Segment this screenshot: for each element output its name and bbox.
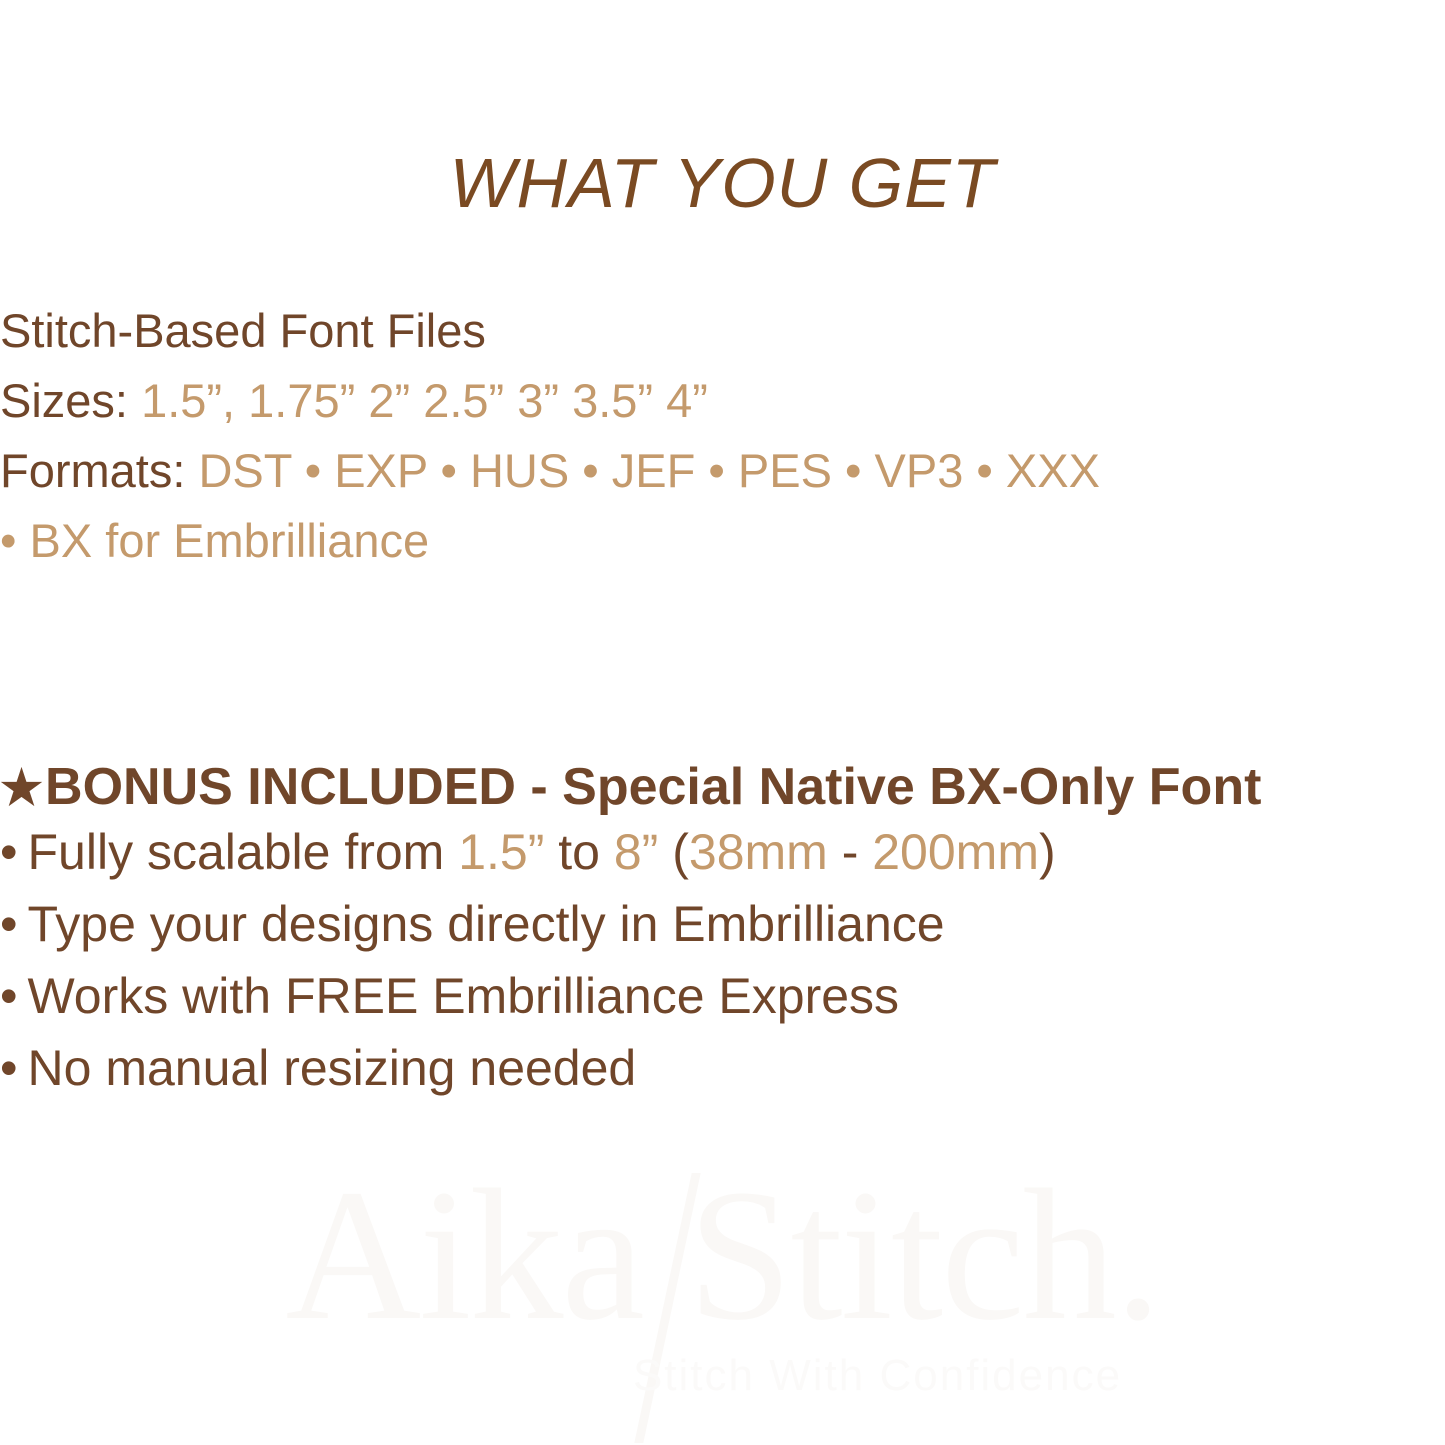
- spec-formats-value: DST • EXP • HUS • JEF • PES • VP3 • XXX: [198, 444, 1100, 497]
- bonus-list-item: •No manual resizing needed: [0, 1032, 1300, 1104]
- watermark-slash-icon: [634, 1173, 700, 1443]
- bonus-item-segment: Works with FREE Embrilliance Express: [28, 968, 900, 1024]
- bullet-icon: •: [0, 968, 18, 1024]
- spec-formats-value-wrap: • BX for Embrilliance: [0, 514, 429, 567]
- bonus-list-item: •Type your designs directly in Embrillia…: [0, 888, 1300, 960]
- spec-formats-label: Formats:: [0, 444, 185, 497]
- bonus-heading-text: BONUS INCLUDED - Special Native BX-Only …: [45, 758, 1261, 816]
- bonus-item-segment: -: [828, 824, 872, 880]
- spec-sizes-label: Sizes:: [0, 374, 128, 427]
- bonus-heading: ★BONUS INCLUDED - Special Native BX-Only…: [0, 756, 1340, 818]
- bonus-item-segment: ): [1039, 824, 1056, 880]
- bonus-item-segment: Fully scalable from: [28, 824, 459, 880]
- spec-sizes-value: 1.5”, 1.75” 2” 2.5” 3” 3.5” 4”: [141, 374, 708, 427]
- watermark: Aika Stitch. Stitch With Confidence: [0, 1155, 1445, 1445]
- bullet-icon: •: [0, 1040, 18, 1096]
- bonus-feature-list: •Fully scalable from 1.5” to 8” (38mm - …: [0, 816, 1300, 1104]
- bonus-item-segment: 8”: [614, 824, 658, 880]
- page-title: WHAT YOU GET: [0, 143, 1445, 223]
- bonus-list-item: •Fully scalable from 1.5” to 8” (38mm - …: [0, 816, 1300, 888]
- bonus-item-segment: (: [658, 824, 689, 880]
- bonus-item-segment: to: [544, 824, 613, 880]
- spec-line-sizes: Sizes: 1.5”, 1.75” 2” 2.5” 3” 3.5” 4”: [0, 366, 1300, 436]
- bullet-icon: •: [0, 896, 18, 952]
- bonus-item-segment: 38mm: [689, 824, 828, 880]
- bonus-item-segment: Type your designs directly in Embrillian…: [28, 896, 945, 952]
- spec-block: Stitch-Based Font Files Sizes: 1.5”, 1.7…: [0, 296, 1300, 576]
- spec-files-text: Stitch-Based Font Files: [0, 304, 486, 357]
- bonus-item-segment: 200mm: [872, 824, 1039, 880]
- spec-line-formats: Formats: DST • EXP • HUS • JEF • PES • V…: [0, 436, 1300, 576]
- watermark-brand: Aika Stitch.: [0, 1155, 1445, 1355]
- bonus-item-segment: 1.5”: [458, 824, 544, 880]
- bullet-icon: •: [0, 824, 18, 880]
- bonus-item-segment: No manual resizing needed: [28, 1040, 637, 1096]
- spec-line-files: Stitch-Based Font Files: [0, 296, 1300, 366]
- watermark-tagline: Stitch With Confidence: [0, 1350, 1445, 1402]
- bonus-list-item: •Works with FREE Embrilliance Express: [0, 960, 1300, 1032]
- star-icon: ★: [0, 762, 43, 815]
